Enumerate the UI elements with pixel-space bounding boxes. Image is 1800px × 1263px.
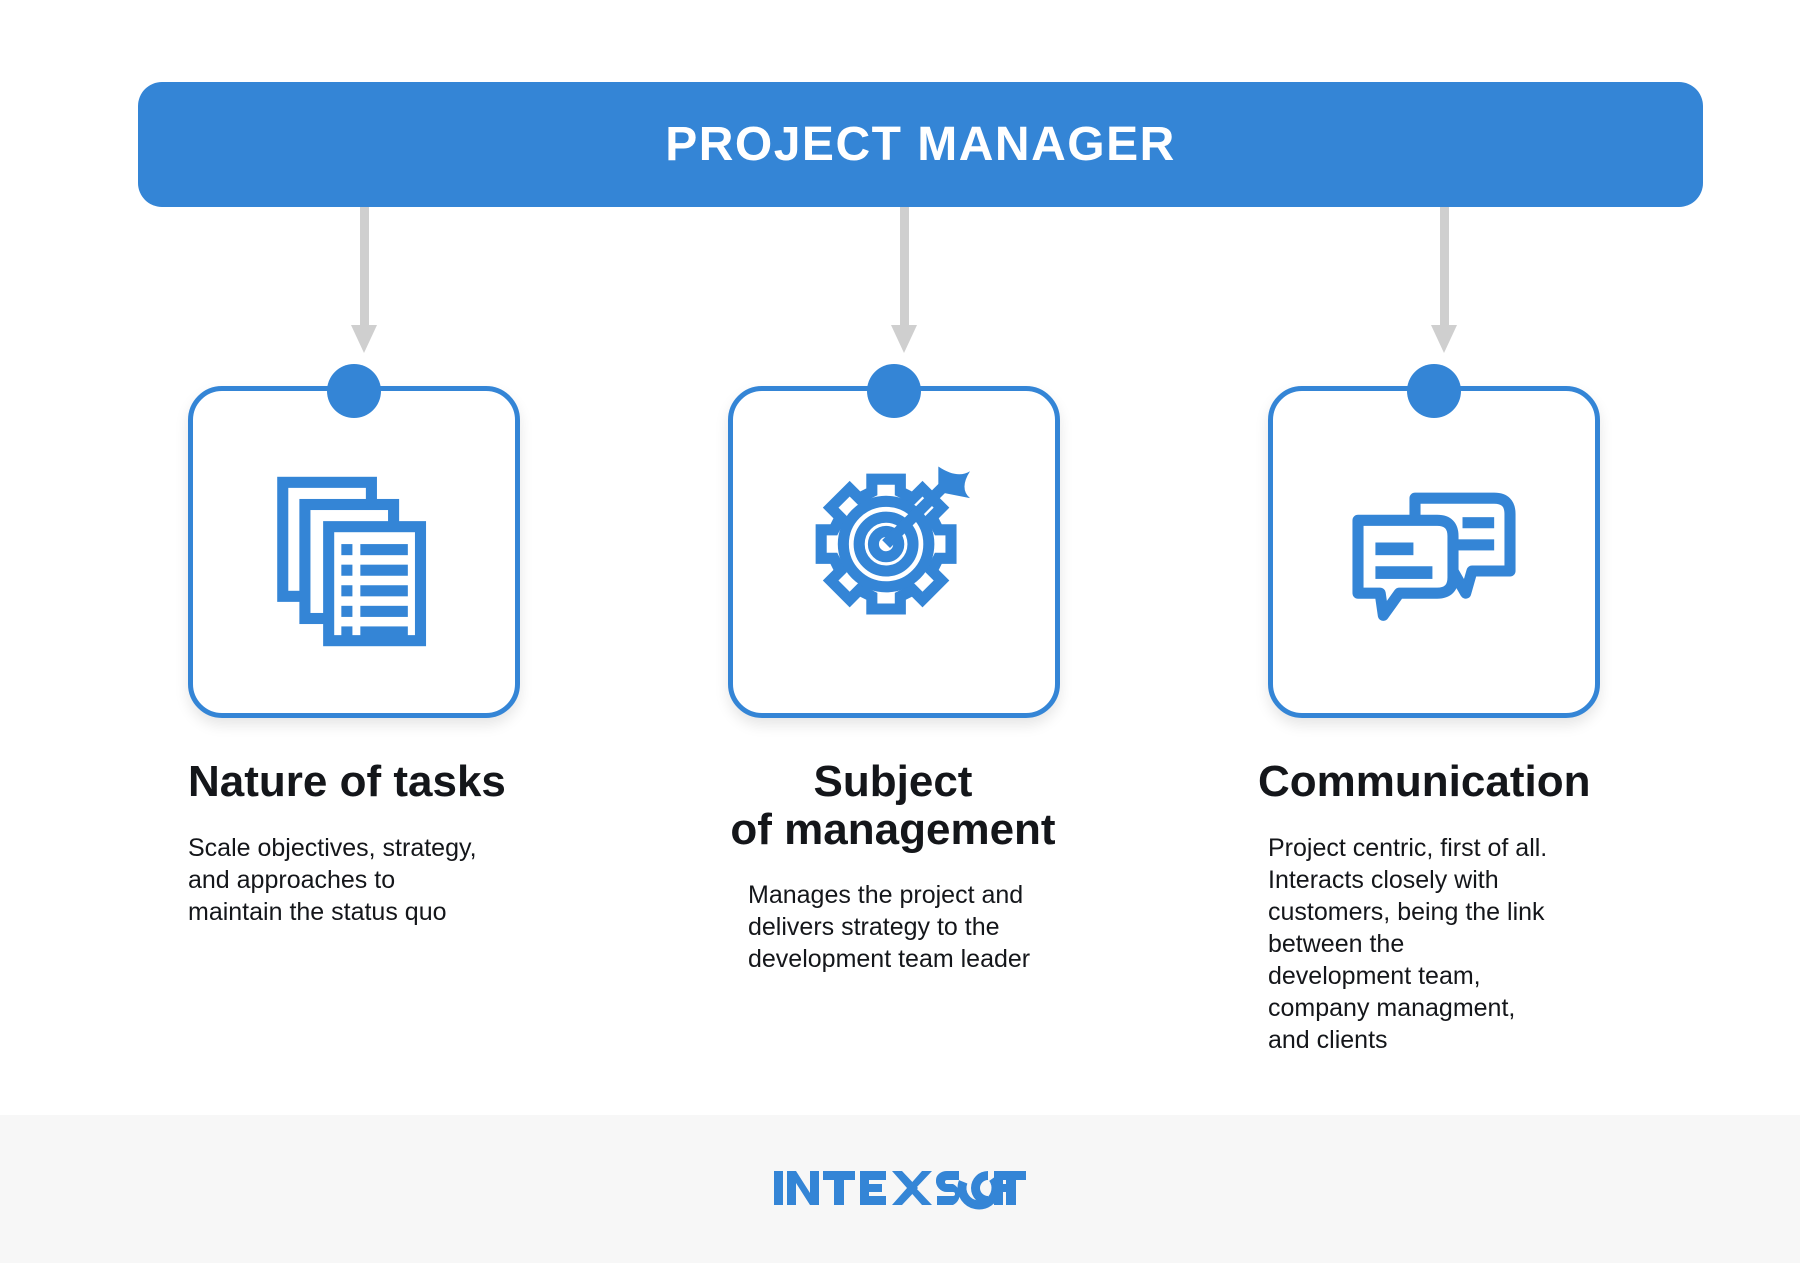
- card-connector-dot: [1407, 364, 1461, 418]
- connector-arrow-2: [900, 207, 909, 355]
- column-body-text: Project centric, first of all. Interacts…: [1268, 832, 1658, 1056]
- column-body-text: Scale objectives, strategy, and approach…: [188, 832, 568, 928]
- documents-stack-icon: [259, 457, 449, 647]
- column-communication: Communication Project centric, first of …: [1268, 386, 1698, 1056]
- speech-bubbles-icon: [1339, 457, 1529, 647]
- down-arrow-icon: [891, 325, 917, 353]
- card-connector-dot: [327, 364, 381, 418]
- connector-stem: [1440, 207, 1449, 327]
- connector-stem: [360, 207, 369, 327]
- connector-arrow-3: [1440, 207, 1449, 355]
- column-heading: Subject of management: [693, 758, 1093, 853]
- page-title: PROJECT MANAGER: [665, 121, 1176, 169]
- card-connector-dot: [867, 364, 921, 418]
- connector-stem: [900, 207, 909, 327]
- icon-card-3[interactable]: [1268, 386, 1600, 718]
- column-heading: Nature of tasks: [188, 758, 618, 806]
- intexsoft-logo: INTEXSOFT: [774, 1167, 1026, 1211]
- column-subject-of-management: Subject of management Manages the projec…: [728, 386, 1158, 975]
- connector-arrow-1: [360, 207, 369, 355]
- icon-card-2[interactable]: [728, 386, 1060, 718]
- column-nature-of-tasks: Nature of tasks Scale objectives, strate…: [188, 386, 618, 928]
- down-arrow-icon: [351, 325, 377, 353]
- column-body-text: Manages the project and delivers strateg…: [728, 879, 1128, 975]
- down-arrow-icon: [1431, 325, 1457, 353]
- header-banner: PROJECT MANAGER: [138, 82, 1703, 207]
- target-gear-arrow-icon: [799, 457, 989, 647]
- column-heading: Communication: [1258, 758, 1688, 806]
- infographic-root: PROJECT MANAGER: [0, 0, 1800, 1263]
- footer: INTEXSOFT: [0, 1115, 1800, 1263]
- icon-card-1[interactable]: [188, 386, 520, 718]
